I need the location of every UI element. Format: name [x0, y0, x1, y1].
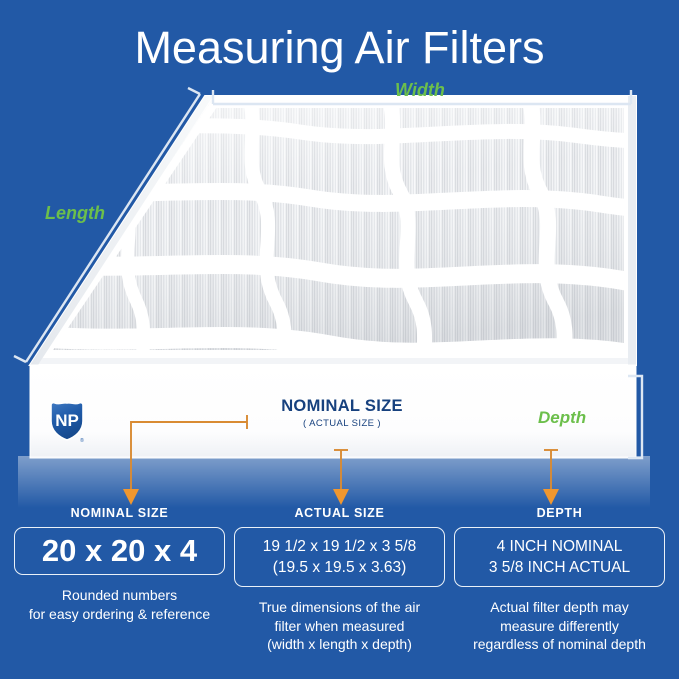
nominal-size-callout-primary: NOMINAL SIZE — [252, 397, 432, 416]
column-heading: NOMINAL SIZE — [14, 506, 225, 520]
actual-size-value-fraction: 19 1/2 x 19 1/2 x 3 5/8 — [263, 536, 416, 557]
np-logo-text: NP — [55, 411, 79, 430]
infographic-canvas: Measuring Air Filters — [0, 0, 679, 679]
depth-value-actual: 3 5/8 INCH ACTUAL — [489, 557, 630, 578]
column-depth: DEPTH 4 INCH NOMINAL 3 5/8 INCH ACTUAL A… — [454, 506, 665, 654]
depth-value-nominal: 4 INCH NOMINAL — [497, 536, 623, 557]
summary-columns: NOMINAL SIZE 20 x 20 x 4 Rounded numbers… — [0, 506, 679, 654]
nominal-size-value: 20 x 20 x 4 — [42, 532, 197, 570]
note-line: True dimensions of the air — [234, 598, 445, 617]
note-line: filter when measured — [234, 617, 445, 636]
depth-label: Depth — [538, 408, 586, 428]
note-line: for easy ordering & reference — [14, 605, 225, 624]
nominal-size-callout-secondary: ( ACTUAL SIZE ) — [252, 418, 432, 429]
column-actual-size: ACTUAL SIZE 19 1/2 x 19 1/2 x 3 5/8 (19.… — [234, 506, 445, 654]
actual-size-value-decimal: (19.5 x 19.5 x 3.63) — [273, 557, 407, 578]
np-shield-logo: NP ® — [47, 399, 87, 443]
note-line: Actual filter depth may — [454, 598, 665, 617]
note-line: measure differently — [454, 617, 665, 636]
column-note: True dimensions of the air filter when m… — [234, 598, 445, 654]
column-heading: ACTUAL SIZE — [234, 506, 445, 520]
depth-bracket-icon — [612, 372, 656, 464]
column-note: Rounded numbers for easy ordering & refe… — [14, 586, 225, 623]
actual-size-value-box: 19 1/2 x 19 1/2 x 3 5/8 (19.5 x 19.5 x 3… — [234, 527, 445, 587]
nominal-size-callout: NOMINAL SIZE ( ACTUAL SIZE ) — [252, 397, 432, 429]
length-label: Length — [45, 203, 105, 224]
depth-value-box: 4 INCH NOMINAL 3 5/8 INCH ACTUAL — [454, 527, 665, 587]
column-nominal-size: NOMINAL SIZE 20 x 20 x 4 Rounded numbers… — [14, 506, 225, 654]
note-line: Rounded numbers — [14, 586, 225, 605]
np-registered-mark: ® — [80, 437, 84, 443]
nominal-size-value-box: 20 x 20 x 4 — [14, 527, 225, 575]
note-line: regardless of nominal depth — [454, 635, 665, 654]
column-heading: DEPTH — [454, 506, 665, 520]
arrow-down-icon — [123, 489, 559, 505]
column-note: Actual filter depth may measure differen… — [454, 598, 665, 654]
note-line: (width x length x depth) — [234, 635, 445, 654]
width-label: Width — [395, 80, 445, 101]
